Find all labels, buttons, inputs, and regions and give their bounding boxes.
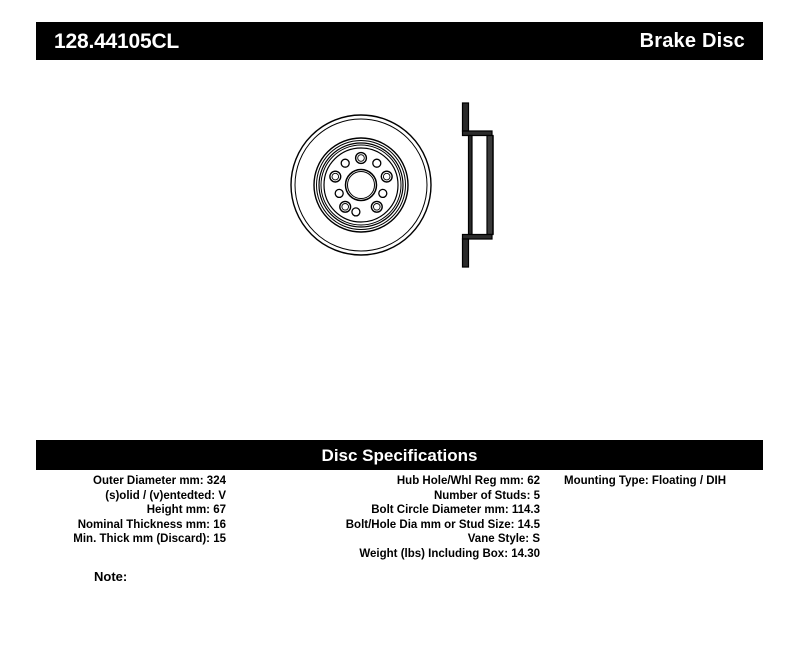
spec-row: Number of Studs: 5 <box>250 489 540 504</box>
spec-row: Height mm: 67 <box>36 503 226 518</box>
spec-row: Bolt/Hole Dia mm or Stud Size: 14.5 <box>250 518 540 533</box>
note-label: Note: <box>94 570 127 583</box>
spec-row: Min. Thick mm (Discard): 15 <box>36 532 226 547</box>
spec-row: Bolt Circle Diameter mm: 114.3 <box>250 503 540 518</box>
spec-column-left: Outer Diameter mm: 324 (s)olid / (v)ente… <box>36 474 226 547</box>
part-number-label: 128.44105CL <box>54 31 179 52</box>
spec-row: Weight (lbs) Including Box: 14.30 <box>250 547 540 562</box>
disc-specifications-title: Disc Specifications <box>322 447 478 464</box>
drawing-area <box>36 75 763 420</box>
spec-row: Mounting Type: Floating / DIH <box>564 474 763 489</box>
alignment-holes <box>335 159 387 216</box>
product-type-title: Brake Disc <box>640 31 745 51</box>
spec-row: (s)olid / (v)entedted: V <box>36 489 226 504</box>
spec-column-right: Mounting Type: Floating / DIH <box>564 474 763 489</box>
brake-disc-spec-sheet: 128.44105CL Brake Disc <box>0 0 800 655</box>
brake-disc-face-view <box>291 115 431 255</box>
header-bar: 128.44105CL Brake Disc <box>36 22 763 60</box>
spec-row: Vane Style: S <box>250 532 540 547</box>
spec-column-middle: Hub Hole/Whl Reg mm: 62 Number of Studs:… <box>250 474 540 562</box>
brake-disc-technical-drawing <box>280 95 520 275</box>
brake-disc-edge-section-view <box>463 103 494 267</box>
disc-specifications-bar: Disc Specifications <box>36 440 763 470</box>
spec-row: Nominal Thickness mm: 16 <box>36 518 226 533</box>
spec-row: Outer Diameter mm: 324 <box>36 474 226 489</box>
spec-row: Hub Hole/Whl Reg mm: 62 <box>250 474 540 489</box>
specifications-columns: Outer Diameter mm: 324 (s)olid / (v)ente… <box>36 474 763 574</box>
